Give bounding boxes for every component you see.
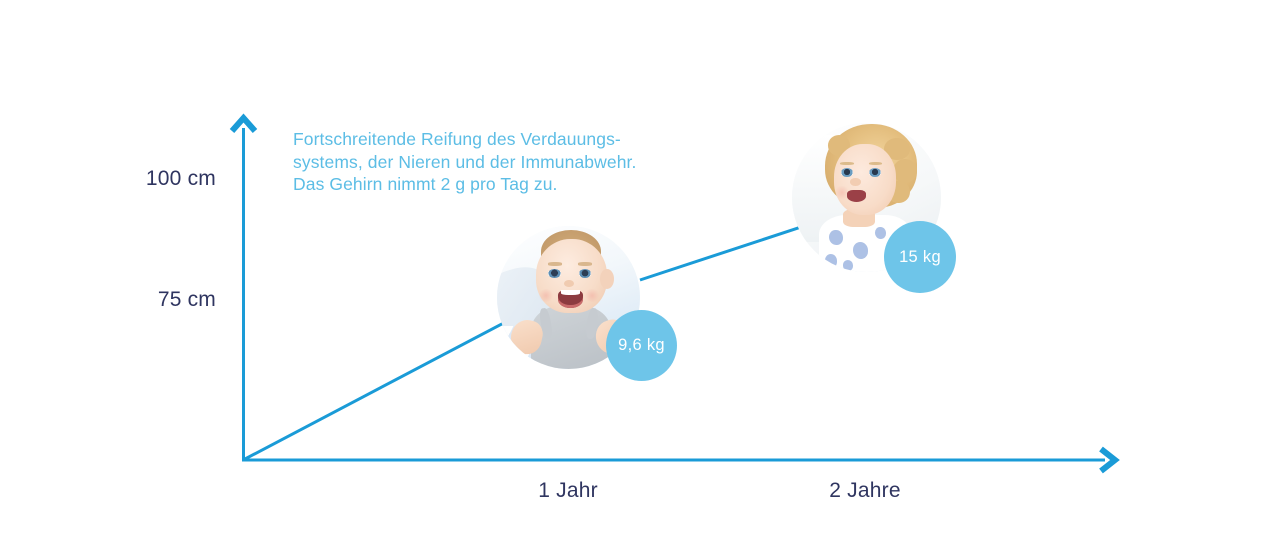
annotation-line-3: Das Gehirn nimmt 2 g pro Tag zu.: [293, 173, 673, 196]
annotation-line-1: Fortschreitende Reifung des Verdauungs-: [293, 128, 673, 151]
photo-2-shirt-dot: [853, 242, 868, 258]
photo-2-nose: [850, 178, 860, 185]
x-axis-tick-label-1-year: 1 Jahr: [498, 479, 638, 503]
photo-2-hair-curl: [893, 159, 917, 183]
photo-2-eyebrow-left: [840, 162, 853, 165]
photo-2-shirt-dot: [875, 227, 885, 239]
annotation-line-2: systems, der Nieren und der Immunabwehr.: [293, 151, 673, 174]
photo-1-cheek-right: [584, 289, 600, 302]
photo-1-ear: [600, 269, 614, 289]
x-axis-tick-label-2-years: 2 Jahre: [794, 479, 936, 503]
weight-badge-1-year: 9,6 kg: [606, 310, 677, 381]
growth-chart-infographic: 100 cm 75 cm 1 Jahr 2 Jahre Fortschreite…: [0, 0, 1280, 560]
photo-1-mouth: [558, 290, 582, 307]
x-axis-arrow-icon: [1101, 449, 1115, 471]
photo-2-eyebrow-right: [869, 162, 882, 165]
photo-1-eyebrow-right: [578, 262, 592, 265]
photo-2-head: [834, 144, 897, 216]
photo-2-shirt-dot: [825, 254, 837, 267]
annotation-text-block: Fortschreitende Reifung des Verdauungs- …: [293, 128, 673, 196]
y-axis-tick-label-75cm: 75 cm: [158, 288, 216, 312]
y-axis-arrow-icon: [232, 118, 255, 131]
photo-1-eyebrow-left: [548, 262, 562, 265]
weight-badge-2-years: 15 kg: [884, 221, 956, 293]
photo-1-cheek-left: [538, 289, 554, 302]
photo-2-eye-right: [869, 168, 881, 177]
y-axis-tick-label-100cm: 100 cm: [146, 167, 216, 191]
photo-2-eye-left: [841, 168, 853, 177]
photo-2-shirt-dot: [829, 230, 842, 245]
chart-axes-and-trendline: [0, 0, 1280, 560]
photo-2-shirt-dot: [843, 260, 853, 270]
